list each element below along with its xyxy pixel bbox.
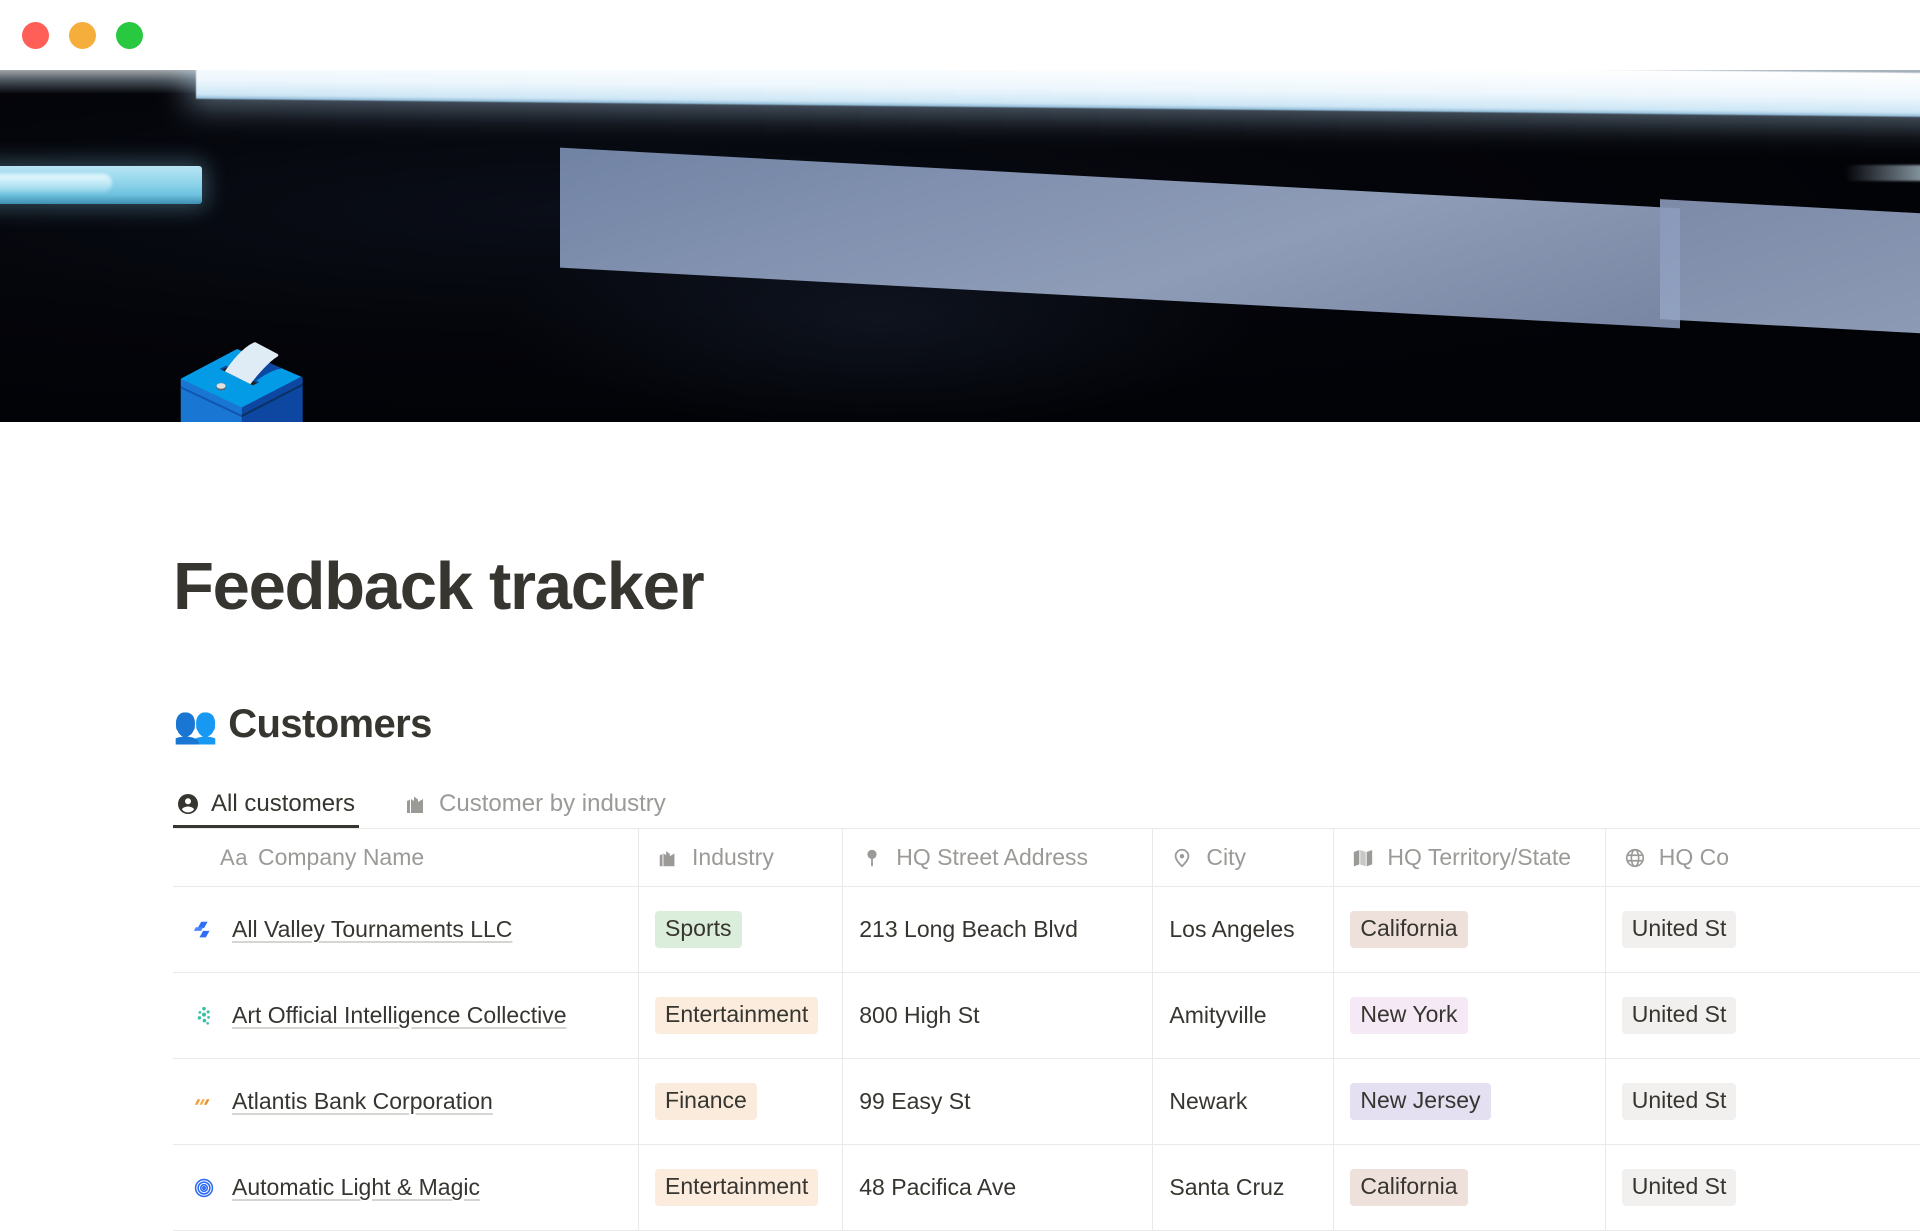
blue-spiral-logo-icon	[191, 1175, 217, 1201]
minimize-window-button[interactable]	[69, 22, 96, 49]
column-header-hq-territory-state[interactable]: HQ Territory/State	[1334, 829, 1605, 887]
section-heading-label: Customers	[228, 702, 432, 747]
person-circle-icon	[175, 791, 201, 817]
cell-industry[interactable]: Finance	[639, 1059, 843, 1145]
customers-table: Aa Company Name Industry HQ	[173, 828, 1920, 1231]
cover-light-bar-left-highlight	[0, 174, 112, 192]
traffic-lights	[22, 22, 143, 49]
cell-hq-territory-state[interactable]: New Jersey	[1334, 1059, 1605, 1145]
people-emoji-icon: 👥	[173, 707, 217, 743]
window-titlebar	[0, 0, 1920, 70]
cover-light-strip-far-right	[1845, 165, 1920, 181]
cell-company-name[interactable]: Automatic Light & Magic	[173, 1145, 639, 1231]
cell-hq-country[interactable]: United St	[1606, 1145, 1920, 1231]
industry-tag: Entertainment	[655, 1169, 818, 1205]
globe-icon	[1622, 845, 1648, 871]
pushpin-icon	[859, 845, 885, 871]
cell-hq-country[interactable]: United St	[1606, 1059, 1920, 1145]
tab-all-customers[interactable]: All customers	[173, 780, 373, 828]
tab-all-customers-label: All customers	[211, 790, 355, 818]
country-tag: United St	[1622, 997, 1737, 1033]
table-row[interactable]: Automatic Light & Magic Entertainment 48…	[173, 1145, 1920, 1231]
state-tag: New Jersey	[1350, 1083, 1490, 1119]
database-view-tabs: All customers Customer by industry	[173, 780, 684, 828]
section-heading: 👥 Customers	[173, 702, 432, 747]
zoom-window-button[interactable]	[116, 22, 143, 49]
tab-customer-by-industry-label: Customer by industry	[439, 790, 666, 818]
column-header-hq-country-label: HQ Co	[1659, 844, 1729, 871]
company-name-link[interactable]: Art Official Intelligence Collective	[232, 1002, 567, 1029]
cell-city[interactable]: Los Angeles	[1153, 887, 1334, 973]
map-icon	[1350, 845, 1376, 871]
cell-hq-street-address[interactable]: 48 Pacifica Ave	[843, 1145, 1153, 1231]
cell-hq-street-address[interactable]: 99 Easy St	[843, 1059, 1153, 1145]
orange-slashes-logo-icon	[191, 1089, 217, 1115]
column-header-hq-street-address-label: HQ Street Address	[896, 844, 1088, 871]
cell-hq-country[interactable]: United St	[1606, 973, 1920, 1059]
cell-company-name[interactable]: Atlantis Bank Corporation	[173, 1059, 639, 1145]
table-row[interactable]: Art Official Intelligence Collective Ent…	[173, 973, 1920, 1059]
company-name-link[interactable]: Automatic Light & Magic	[232, 1174, 480, 1201]
cell-hq-country[interactable]: United St	[1606, 887, 1920, 973]
cell-company-name[interactable]: All Valley Tournaments LLC	[173, 887, 639, 973]
teal-dots-logo-icon	[191, 1003, 217, 1029]
blue-slash-logo-icon	[191, 917, 217, 943]
state-tag: New York	[1350, 997, 1467, 1033]
column-header-city[interactable]: City	[1153, 829, 1334, 887]
column-header-industry-label: Industry	[692, 844, 774, 871]
tab-customer-by-industry[interactable]: Customer by industry	[401, 780, 684, 828]
industry-tag: Entertainment	[655, 997, 818, 1033]
column-header-hq-territory-state-label: HQ Territory/State	[1387, 844, 1571, 871]
state-tag: California	[1350, 1169, 1467, 1205]
cell-hq-street-address[interactable]: 213 Long Beach Blvd	[843, 887, 1153, 973]
cover-panel-right-second	[1660, 199, 1920, 341]
table-header-row: Aa Company Name Industry HQ	[173, 829, 1920, 887]
column-header-company-name-label: Company Name	[258, 844, 424, 871]
column-header-city-label: City	[1206, 844, 1246, 871]
cell-city[interactable]: Amityville	[1153, 973, 1334, 1059]
state-tag: California	[1350, 911, 1467, 947]
cell-hq-territory-state[interactable]: New York	[1334, 973, 1605, 1059]
aa-text-icon: Aa	[221, 845, 247, 871]
column-header-hq-country[interactable]: HQ Co	[1606, 829, 1920, 887]
page-body: Feedback tracker 👥 Customers All custome…	[0, 422, 1920, 1200]
column-header-industry[interactable]: Industry	[639, 829, 843, 887]
cell-hq-territory-state[interactable]: California	[1334, 887, 1605, 973]
industry-tag: Sports	[655, 911, 741, 947]
close-window-button[interactable]	[22, 22, 49, 49]
cell-city[interactable]: Santa Cruz	[1153, 1145, 1334, 1231]
cell-industry[interactable]: Sports	[639, 887, 843, 973]
cell-hq-territory-state[interactable]: California	[1334, 1145, 1605, 1231]
company-name-link[interactable]: All Valley Tournaments LLC	[232, 916, 512, 943]
cell-city[interactable]: Newark	[1153, 1059, 1334, 1145]
table-row[interactable]: All Valley Tournaments LLC Sports 213 Lo…	[173, 887, 1920, 973]
country-tag: United St	[1622, 1169, 1737, 1205]
factory-icon	[655, 845, 681, 871]
country-tag: United St	[1622, 1083, 1737, 1119]
page-title: Feedback tracker	[173, 548, 703, 625]
cell-industry[interactable]: Entertainment	[639, 973, 843, 1059]
cell-hq-street-address[interactable]: 800 High St	[843, 973, 1153, 1059]
map-pin-icon	[1169, 845, 1195, 871]
cell-company-name[interactable]: Art Official Intelligence Collective	[173, 973, 639, 1059]
column-header-hq-street-address[interactable]: HQ Street Address	[843, 829, 1153, 887]
company-name-link[interactable]: Atlantis Bank Corporation	[232, 1088, 493, 1115]
column-header-company-name[interactable]: Aa Company Name	[173, 829, 639, 887]
table-row[interactable]: Atlantis Bank Corporation Finance 99 Eas…	[173, 1059, 1920, 1145]
factory-icon	[403, 791, 429, 817]
cell-industry[interactable]: Entertainment	[639, 1145, 843, 1231]
country-tag: United St	[1622, 911, 1737, 947]
industry-tag: Finance	[655, 1083, 757, 1119]
